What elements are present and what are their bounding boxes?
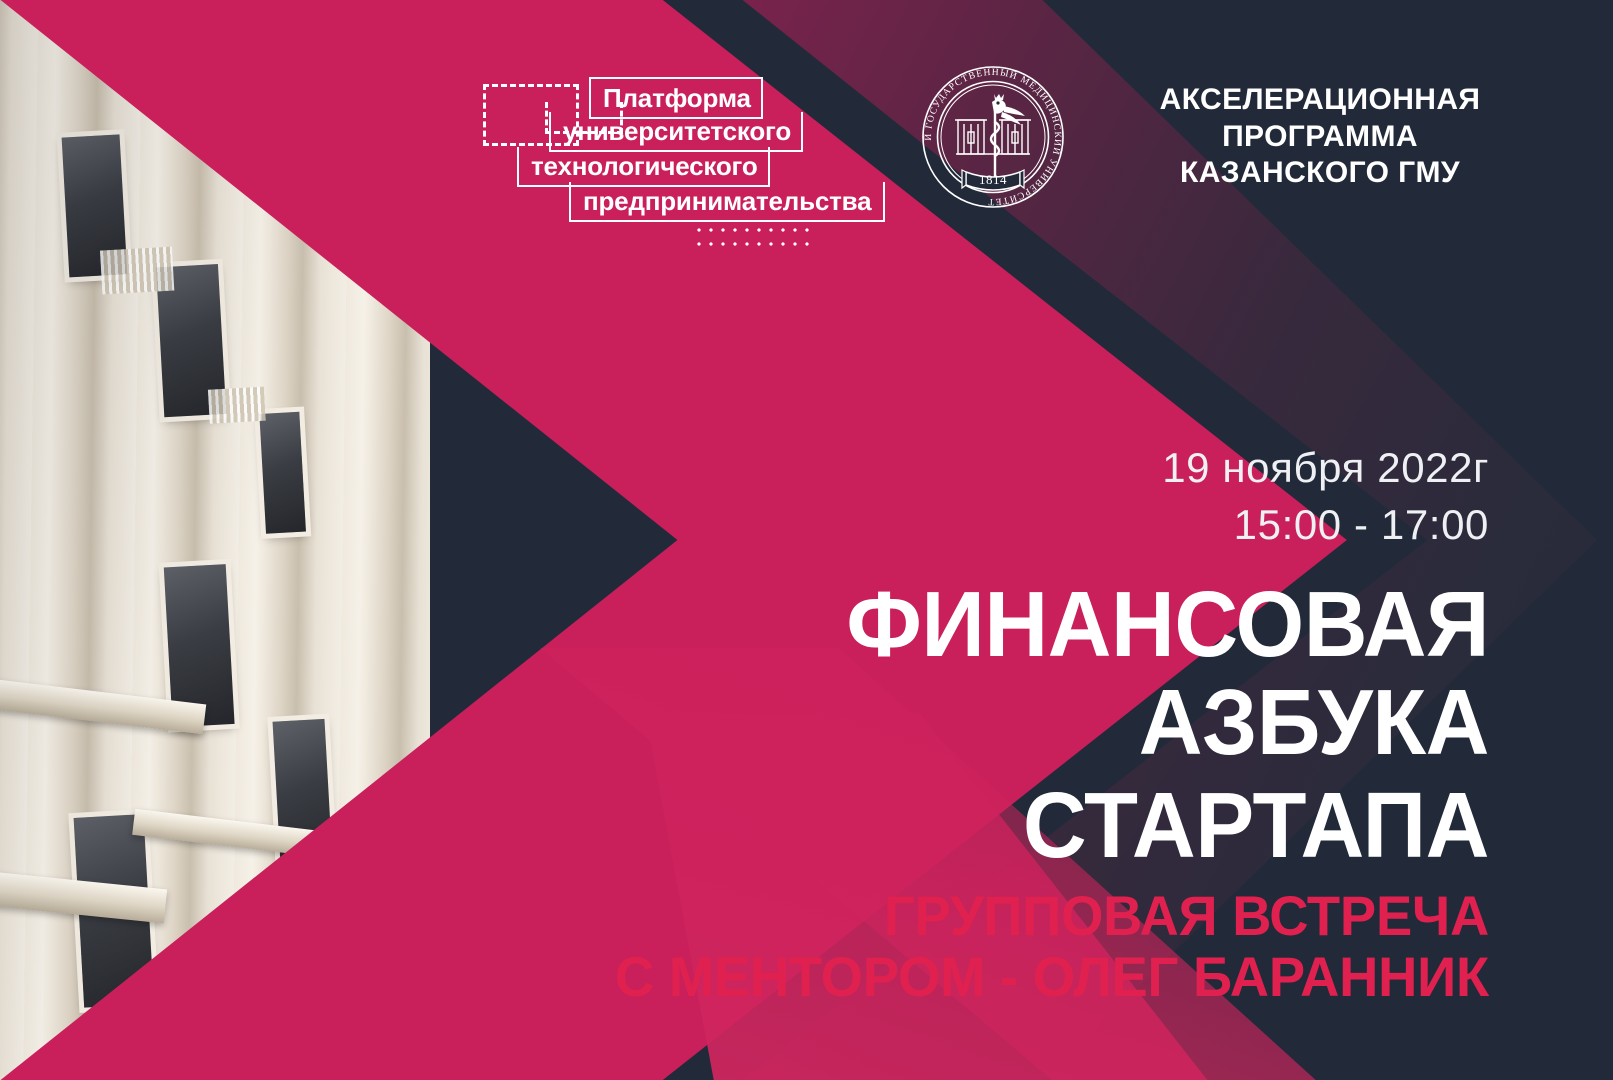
logo-dot-grid-side-icon xyxy=(693,224,697,250)
logo-dot-grid-icon xyxy=(693,224,815,250)
university-seal-icon: КАЗАНСКИЙ ГОСУДАРСТВЕННЫЙ МЕДИЦИНСКИЙ УН… xyxy=(918,62,1068,212)
program-title-line-3: КАЗАНСКОГО ГМУ xyxy=(1140,155,1500,192)
program-title: АКСЕЛЕРАЦИОННАЯ ПРОГРАММА КАЗАНСКОГО ГМУ xyxy=(1140,82,1500,192)
event-subtitle-line-2: С МЕНТОРОМ - ОЛЕГ БАРАННИК xyxy=(471,946,1490,1008)
svg-text:1814: 1814 xyxy=(979,172,1007,187)
event-date: 19 ноября 2022г xyxy=(439,440,1489,495)
event-time: 15:00 - 17:00 xyxy=(439,497,1489,552)
event-subtitle-line-1: ГРУППОВАЯ ВСТРЕЧА xyxy=(884,884,1489,947)
event-details: 19 ноября 2022г 15:00 - 17:00 ФИНАНСОВАЯ… xyxy=(439,440,1489,1008)
event-subtitle: ГРУППОВАЯ ВСТРЕЧА С МЕНТОРОМ - ОЛЕГ БАРА… xyxy=(471,885,1490,1008)
poster-header: Платформа университетского технологическ… xyxy=(0,0,1613,250)
logo-line-2: университетского xyxy=(549,112,803,152)
platform-logo: Платформа университетского технологическ… xyxy=(483,72,883,232)
logo-line-3: технологического xyxy=(517,147,770,187)
event-title: ФИНАНСОВАЯ АЗБУКА СТАРТАПА xyxy=(492,575,1490,875)
program-title-line-2: ПРОГРАММА xyxy=(1140,119,1500,156)
logo-line-4: предпринимательства xyxy=(569,182,885,222)
event-title-line-1: ФИНАНСОВАЯ АЗБУКА xyxy=(846,572,1489,775)
event-title-line-2: СТАРТАПА xyxy=(492,776,1490,875)
event-poster: Платформа университетского технологическ… xyxy=(0,0,1613,1080)
program-title-line-1: АКСЕЛЕРАЦИОННАЯ xyxy=(1140,82,1500,119)
